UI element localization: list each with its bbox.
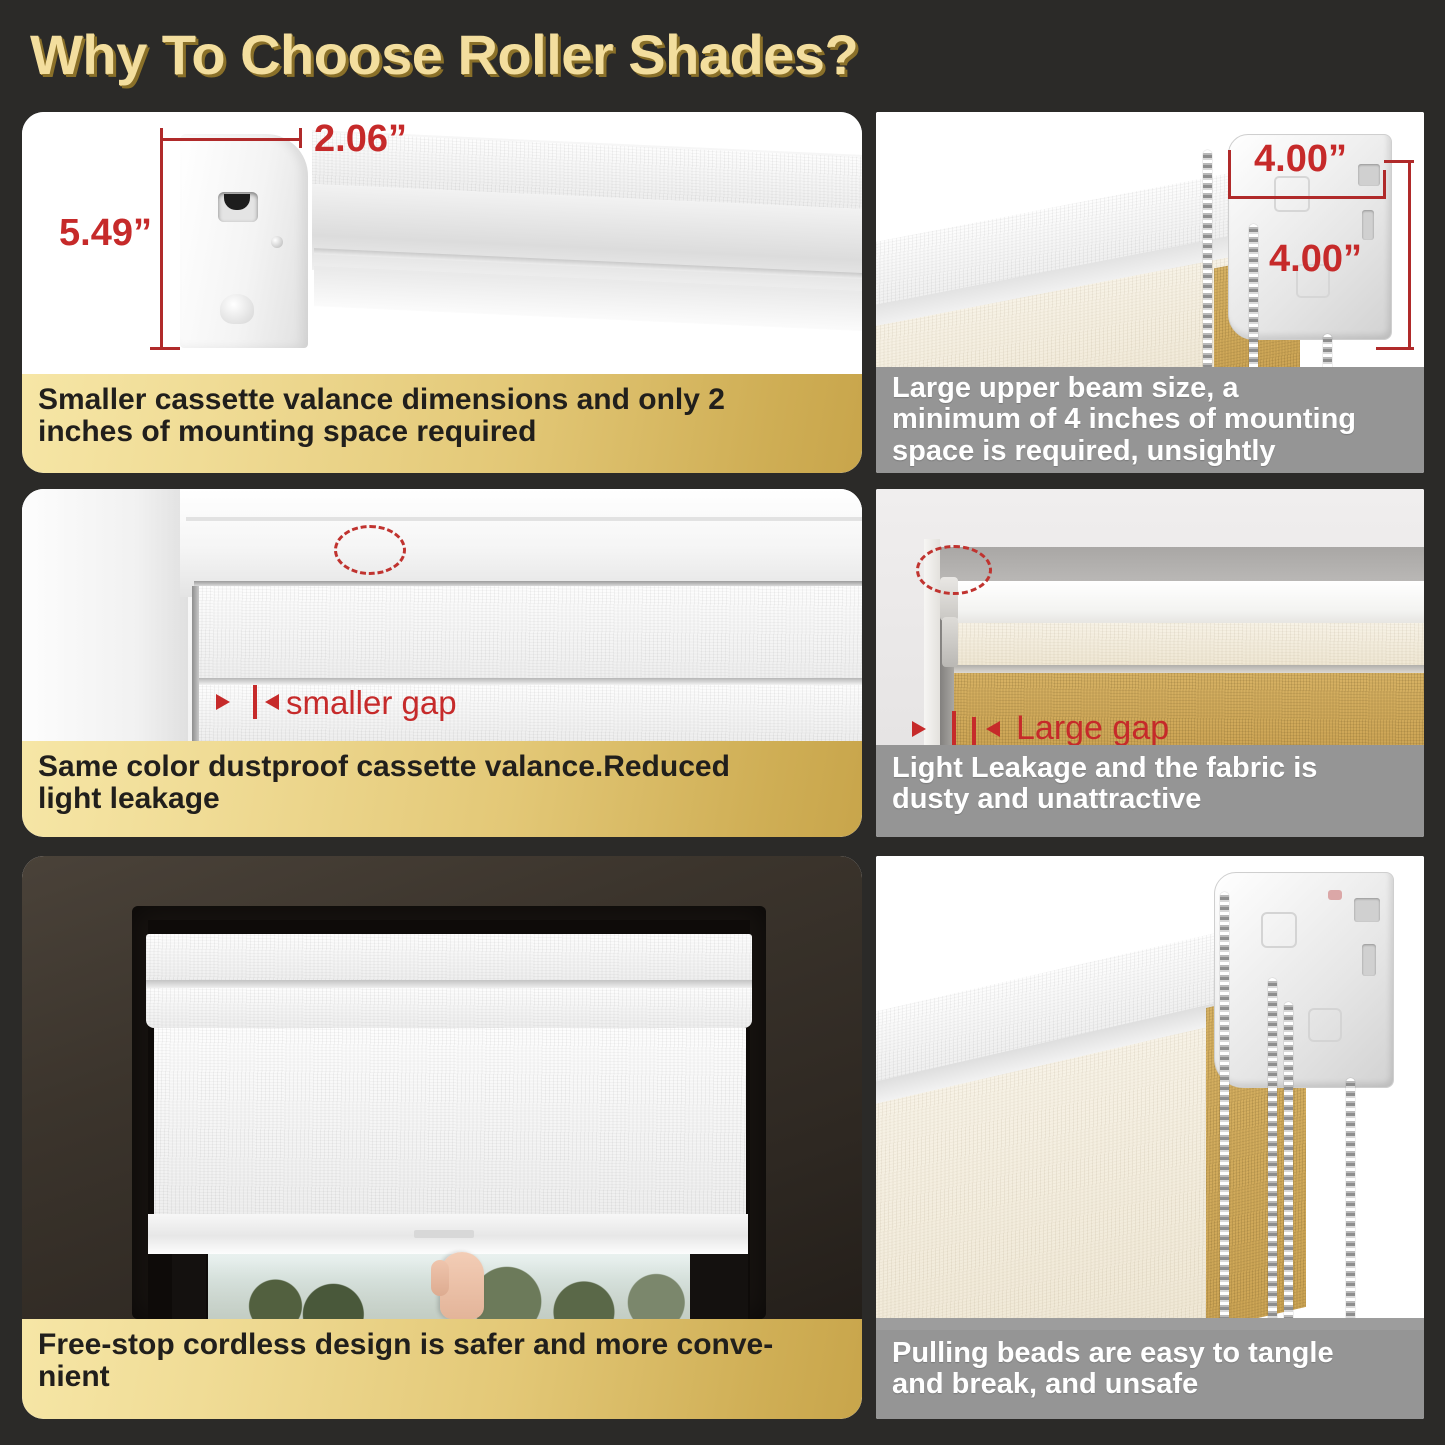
bracket-slot-mid — [1362, 944, 1376, 976]
bracket-clutch-upper — [1274, 176, 1310, 212]
panel-5-caption: Free-stop cordless design is safer and m… — [22, 1319, 862, 1419]
width-dim-line — [160, 138, 302, 141]
caption-line: light leakage — [38, 783, 730, 815]
caption-line: Pulling beads are easy to tangle — [892, 1338, 1334, 1369]
bracket-slot-top — [1354, 898, 1380, 922]
panel-pulling-beads: Pulling beads are easy to tangle and bre… — [876, 856, 1424, 1419]
panel-2-caption: Large upper beam size, a minimum of 4 in… — [876, 367, 1424, 473]
caption-line: inches of mounting space required — [38, 416, 725, 448]
window-mullion-right — [690, 1254, 748, 1319]
cordless-shade-fabric — [154, 1028, 746, 1216]
gap-bar-inner — [972, 717, 976, 745]
bead-chain-front — [1203, 150, 1212, 367]
left-gap-strip — [192, 586, 199, 741]
bracket-pink-dot — [1328, 890, 1342, 900]
panel-cordless-design: Free-stop cordless design is safer and m… — [22, 856, 862, 1419]
cap-pivot — [220, 294, 254, 324]
window-mullion-left — [172, 1254, 206, 1319]
panel-smaller-cassette: 2.06” 5.49” Smaller cassette valance dim… — [22, 112, 862, 473]
bead-chain-middle-b — [1284, 1002, 1293, 1330]
smaller-gap-label: smaller gap — [286, 684, 457, 722]
bead-chain-middle-a — [1268, 978, 1277, 1330]
casing-bevel — [186, 517, 862, 521]
gap-arrow-left — [216, 694, 230, 710]
caption-line: and break, and unsafe — [892, 1369, 1334, 1400]
caption-line: Large upper beam size, a — [892, 373, 1356, 404]
bead-chain-right — [1323, 334, 1332, 367]
infographic-root: Why To Choose Roller Shades? 2.06” 5.49” — [0, 0, 1445, 1445]
rail-shadow — [942, 665, 1424, 673]
width-dim-tick-right — [299, 128, 302, 148]
hand-thumb — [431, 1260, 449, 1296]
cassette-valance-face — [198, 586, 862, 682]
beam-width-dim-line — [1228, 196, 1386, 199]
panel-3-caption: Same color dustproof cassette valance.Re… — [22, 741, 862, 837]
panel-4-photo: Large gap — [876, 489, 1424, 745]
height-dim-tick-bottom — [150, 347, 180, 350]
beam-height-dim-line — [1408, 160, 1411, 350]
bottom-rail-tab — [414, 1230, 474, 1238]
gap-arrow-left — [912, 721, 926, 737]
panel-5-photo — [22, 856, 862, 1319]
window-casing-left — [22, 489, 188, 741]
bead-chain-right — [1346, 1078, 1355, 1330]
height-dim-line — [160, 138, 163, 350]
panel-1-photo: 2.06” 5.49” — [22, 112, 862, 374]
caption-line: nient — [38, 1361, 773, 1393]
caption-line: dusty and unattractive — [892, 784, 1317, 815]
gap-bar-outer — [952, 711, 956, 745]
bead-chain-front — [1220, 892, 1229, 1330]
gap-bar — [253, 685, 257, 719]
beam-height-label: 4.00” — [1269, 238, 1362, 281]
gap-highlight-circle — [916, 545, 992, 595]
seam-highlight-circle — [334, 525, 406, 575]
caption-line: space is required, unsightly — [892, 436, 1356, 467]
bracket-clutch-lower — [1308, 1008, 1342, 1042]
panel-4-caption: Light Leakage and the fabric is dusty an… — [876, 745, 1424, 837]
bracket-slot-top — [1358, 164, 1380, 186]
beam-height-tick-bottom — [1376, 347, 1414, 350]
panel-light-leakage: Large gap Light Leakage and the fabric i… — [876, 489, 1424, 837]
beam-width-tick-left — [1228, 150, 1231, 198]
beam-width-tick-right — [1383, 170, 1386, 198]
beam-height-tick-top — [1384, 160, 1414, 163]
panel-large-upper-beam: 4.00” 4.00” Large upper beam size, a min… — [876, 112, 1424, 473]
caption-line: Smaller cassette valance dimensions and … — [38, 384, 725, 416]
cordless-valance — [146, 934, 752, 982]
cordless-valance-lower — [146, 988, 752, 1028]
panel-3-photo: smaller gap — [22, 489, 862, 741]
gap-arrow-right — [986, 721, 1000, 737]
cap-screw-upper — [271, 236, 283, 248]
beam-width-label: 4.00” — [1254, 138, 1347, 181]
large-gap-label: Large gap — [1016, 709, 1169, 745]
caption-line: Free-stop cordless design is safer and m… — [38, 1329, 773, 1361]
panel-2-photo: 4.00” 4.00” — [876, 112, 1424, 367]
panel-6-caption: Pulling beads are easy to tangle and bre… — [876, 1330, 1424, 1419]
caption-line: Same color dustproof cassette valance.Re… — [38, 751, 730, 783]
panel-6-photo — [876, 856, 1424, 1330]
panel-dustproof-valance: smaller gap Same color dustproof cassett… — [22, 489, 862, 837]
page-title: Why To Choose Roller Shades? — [30, 22, 858, 87]
width-dimension-label: 2.06” — [314, 118, 407, 161]
gap-arrow-right — [265, 694, 279, 710]
bracket-slot-mid — [1362, 210, 1374, 240]
bead-chain-back — [1249, 224, 1258, 367]
panel-1-caption: Smaller cassette valance dimensions and … — [22, 374, 862, 473]
roller-end-nub-lower — [942, 617, 958, 667]
bracket-clutch-upper — [1261, 912, 1297, 948]
valance-cream-band — [942, 623, 1424, 665]
height-dimension-label: 5.49” — [22, 212, 152, 255]
caption-line: Light Leakage and the fabric is — [892, 753, 1317, 784]
caption-line: minimum of 4 inches of mounting — [892, 404, 1356, 435]
floor-shadow — [876, 1318, 1424, 1330]
